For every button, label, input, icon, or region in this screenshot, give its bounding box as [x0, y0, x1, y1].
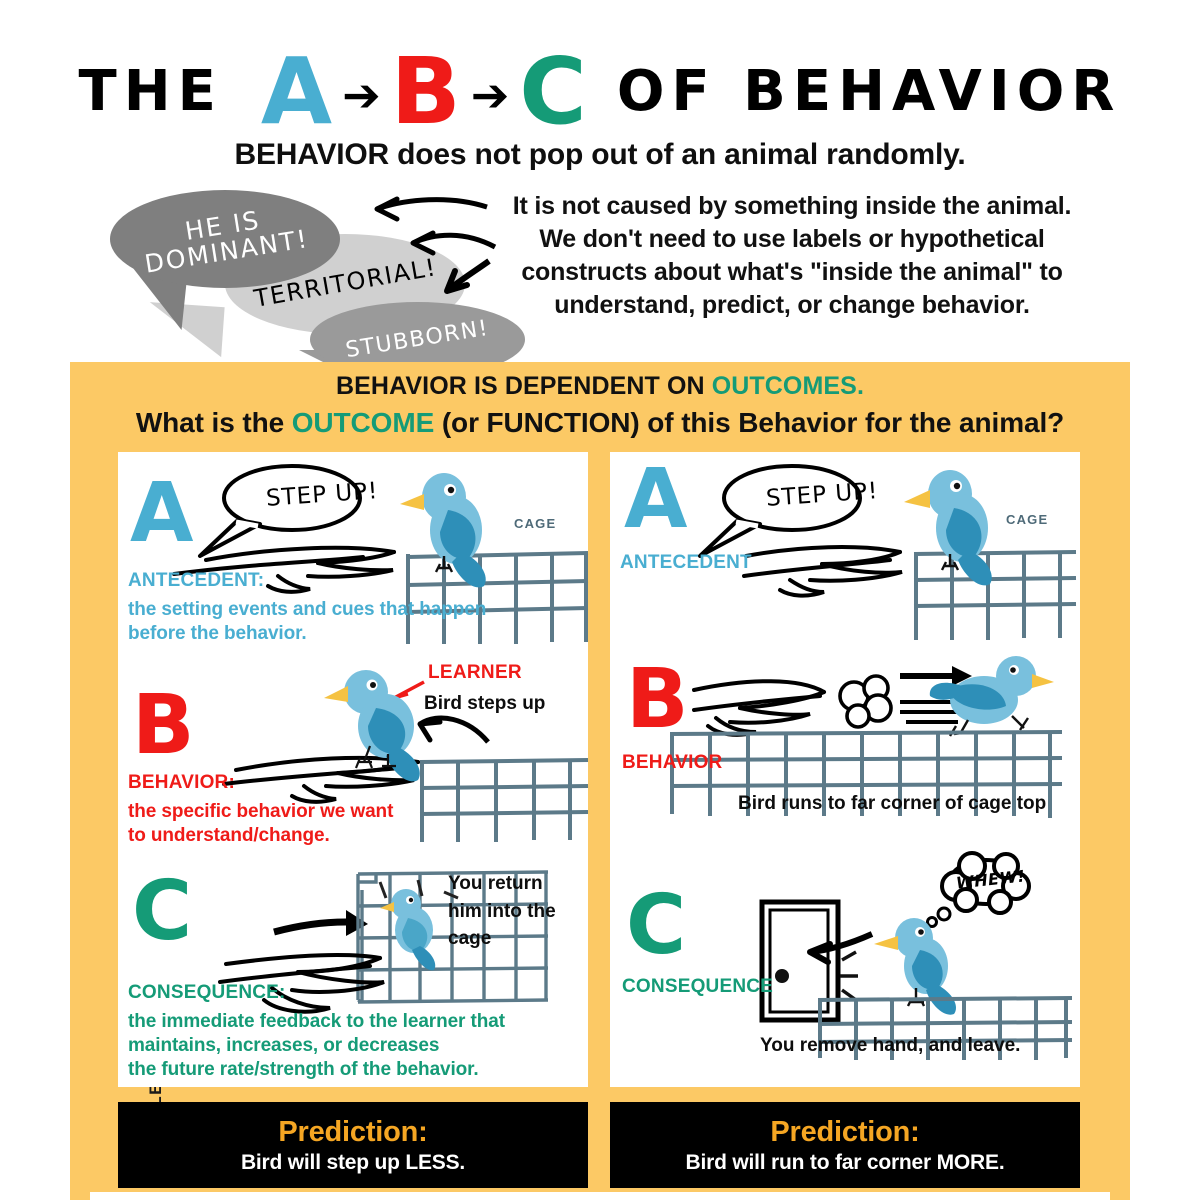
bubble-stubborn-label: STUBBORN!	[344, 317, 491, 362]
left-body-antecedent: the setting events and cues that happen …	[128, 598, 486, 646]
left-caption-bird-steps-up: Bird steps up	[424, 692, 545, 716]
left-block-behavior: B	[118, 650, 588, 870]
banner-line-1-highlight: OUTCOMES.	[712, 372, 864, 400]
left-block-antecedent: A	[118, 452, 588, 652]
infographic-root: THE A ➔ B ➔ C OF BEHAVIOR BEHAVIOR does …	[0, 0, 1200, 1200]
title-letter-c: C	[515, 48, 591, 135]
right-heading-consequence: CONSEQUENCE	[622, 976, 773, 998]
left-caption-return-cage: You return him into the cage	[448, 870, 556, 953]
right-caption-bird-runs: Bird runs to far corner of cage top	[738, 792, 1046, 816]
banner-line-2-suffix: (or FUNCTION) of this Behavior for the a…	[434, 407, 1064, 438]
title-of-behavior: OF BEHAVIOR	[617, 59, 1122, 124]
panel-example-right: A	[610, 452, 1080, 1087]
arrow-right-icon-2: ➔	[465, 72, 516, 118]
bottom-white-strip	[90, 1192, 1110, 1200]
title-the: THE	[79, 59, 223, 124]
left-heading-antecedent: ANTECEDENT:	[128, 570, 264, 592]
subtitle: BEHAVIOR does not pop out of an animal r…	[0, 138, 1200, 172]
banner-line-2-prefix: What is the	[136, 407, 292, 438]
arrow-right-icon: ➔	[336, 72, 387, 118]
left-block-consequence: C	[118, 860, 588, 1090]
prediction-left-text: Bird will step up LESS.	[241, 1151, 465, 1175]
left-body-consequence: the immediate feedback to the learner th…	[128, 1010, 505, 1082]
banner-line-2-highlight: OUTCOME	[292, 407, 434, 438]
bird-illustration-in-cage	[380, 889, 435, 970]
examples-frame: BEHAVIOR IS DEPENDENT ON OUTCOMES. What …	[70, 362, 1130, 1200]
left-body-behavior: the specific behavior we want to underst…	[128, 800, 393, 848]
left-heading-behavior: BEHAVIOR:	[128, 772, 235, 794]
banner-line-2: What is the OUTCOME (or FUNCTION) of thi…	[70, 407, 1130, 439]
bird-illustration-stepping	[324, 670, 420, 781]
bubble-dominant: HE IS DOMINANT!	[110, 190, 340, 288]
right-block-behavior: B	[610, 652, 1080, 852]
prediction-left-title: Prediction:	[278, 1116, 427, 1149]
left-heading-consequence: CONSEQUENCE:	[128, 982, 286, 1004]
right-cage-label: CAGE	[1006, 512, 1048, 527]
intro-paragraph: It is not caused by something inside the…	[492, 190, 1092, 322]
prediction-right-title: Prediction:	[770, 1116, 919, 1149]
banner-line-1: BEHAVIOR IS DEPENDENT ON OUTCOMES.	[70, 372, 1130, 401]
left-cage-label: CAGE	[514, 516, 556, 531]
prediction-box-right: Prediction: Bird will run to far corner …	[610, 1102, 1080, 1188]
prediction-right-text: Bird will run to far corner MORE.	[686, 1151, 1005, 1175]
panel-example-left: A	[118, 452, 588, 1087]
left-learner-label: LEARNER	[428, 662, 522, 684]
pointing-arrows-icon	[355, 185, 505, 305]
prediction-box-left: Prediction: Bird will step up LESS.	[118, 1102, 588, 1188]
banner-line-1-text: BEHAVIOR IS DEPENDENT ON	[336, 372, 712, 400]
bubble-dominant-label: HE IS DOMINANT!	[139, 200, 311, 278]
page-title: THE A ➔ B ➔ C OF BEHAVIOR	[0, 48, 1200, 135]
banner: BEHAVIOR IS DEPENDENT ON OUTCOMES. What …	[70, 372, 1130, 439]
right-block-antecedent: A	[610, 452, 1080, 642]
right-heading-behavior: BEHAVIOR	[622, 752, 722, 774]
right-caption-remove-hand: You remove hand, and leave.	[760, 1034, 1020, 1058]
title-letter-b: B	[387, 48, 465, 135]
right-heading-antecedent: ANTECEDENT	[620, 552, 752, 574]
title-letter-a: A	[257, 48, 336, 135]
right-block-consequence: C	[610, 852, 1080, 1082]
